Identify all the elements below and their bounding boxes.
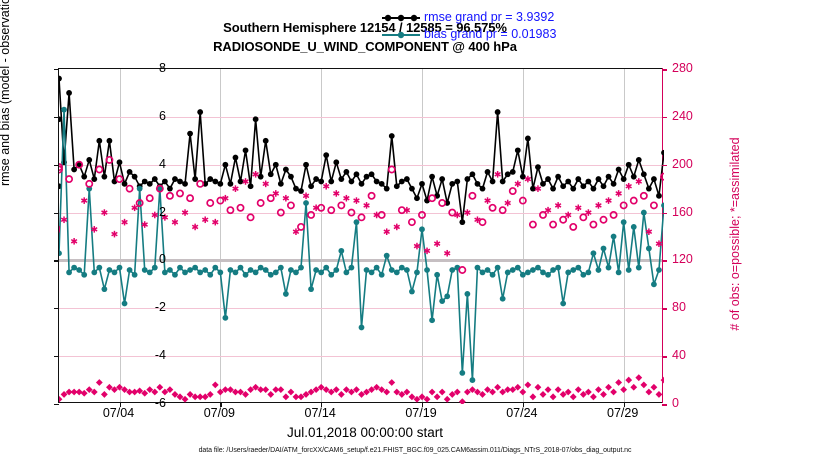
data-point (596, 267, 602, 273)
data-point (303, 200, 309, 206)
obs-possible-marker (348, 209, 354, 215)
obs-baseline-marker (81, 390, 88, 397)
y-tick-label-left: 4 (106, 157, 166, 171)
data-point (495, 109, 501, 115)
obs-possible-marker (610, 212, 616, 218)
data-point (273, 162, 279, 168)
data-point (606, 174, 612, 180)
data-point (490, 179, 496, 185)
data-point (364, 267, 370, 273)
obs-baseline-marker (519, 389, 526, 396)
y-tick-mark-right (662, 356, 667, 358)
y-tick-mark-right (662, 260, 667, 262)
data-point (459, 370, 465, 376)
chart-title: Southern Hemisphere 12154 / 12585 = 96.5… (0, 18, 730, 56)
data-point (530, 186, 536, 192)
series-rmse (59, 76, 664, 225)
data-point (454, 179, 460, 185)
data-point (525, 269, 531, 275)
obs-possible-marker (570, 224, 576, 230)
data-point (364, 174, 370, 180)
data-point (374, 179, 380, 185)
y-axis-right-label: # of obs: o=possible; *=assimilated (728, 64, 742, 404)
data-point (369, 269, 375, 275)
data-point (354, 171, 360, 177)
data-point (182, 269, 188, 275)
obs-baseline-marker (595, 386, 602, 393)
data-point (283, 167, 289, 173)
data-point (293, 186, 299, 192)
data-point (369, 171, 375, 177)
data-point (187, 131, 193, 137)
y-tick-label-left: 0 (106, 252, 166, 266)
obs-possible-marker (147, 195, 153, 201)
data-point (228, 181, 234, 187)
data-point (444, 293, 450, 299)
data-point (202, 267, 208, 273)
legend-bias-label: bias grand pr = 0.01983 (424, 26, 556, 43)
obs-baseline-marker (524, 381, 531, 388)
obs-possible-marker (510, 188, 516, 194)
data-point (394, 269, 400, 275)
data-point (278, 265, 284, 271)
data-point (631, 224, 637, 230)
y-tick-mark-right (662, 69, 667, 71)
data-point (349, 179, 355, 185)
data-point (500, 296, 506, 302)
data-point (293, 269, 299, 275)
data-point (646, 246, 652, 252)
data-point (601, 246, 607, 252)
y-tick-mark-left (54, 404, 59, 405)
data-point (470, 377, 476, 383)
obs-baseline-marker (439, 389, 446, 396)
y-tick-label-right: 40 (672, 348, 732, 362)
data-point (560, 183, 566, 189)
obs-possible-marker (449, 209, 455, 215)
legend-entry-rmse: rmse grand pr = 3.9392 (380, 9, 556, 26)
obs-possible-marker (268, 195, 274, 201)
y-tick-mark-left (54, 308, 59, 309)
data-point (439, 176, 445, 182)
data-point (253, 116, 259, 122)
data-point (197, 269, 203, 275)
data-point (167, 267, 173, 273)
data-point (333, 159, 339, 165)
obs-possible-marker (429, 195, 435, 201)
title-line-2: RADIOSONDE_U_WIND_COMPONENT @ 400 hPa (0, 37, 730, 56)
data-point (485, 169, 491, 175)
obs-possible-marker (288, 202, 294, 208)
data-point (575, 265, 581, 271)
data-point (374, 265, 380, 271)
x-tick-label: 07/29 (607, 406, 638, 420)
x-tick-label: 07/04 (103, 406, 134, 420)
data-point (313, 176, 319, 182)
data-point (258, 265, 264, 271)
data-point (580, 183, 586, 189)
data-point (86, 157, 92, 163)
obs-possible-marker (489, 205, 495, 211)
data-point (122, 181, 128, 187)
y-tick-label-left: 8 (106, 61, 166, 75)
y-tick-mark-left (54, 260, 59, 261)
obs-baseline-marker (96, 379, 103, 386)
data-point (591, 250, 597, 256)
obs-baseline-marker (610, 389, 617, 396)
legend-entry-bias: bias grand pr = 0.01983 (380, 26, 556, 43)
data-point (248, 183, 254, 189)
obs-baseline-marker (640, 381, 647, 388)
data-point (384, 253, 390, 259)
data-point (490, 272, 496, 278)
obs-possible-marker (368, 193, 374, 199)
obs-possible-marker (167, 193, 173, 199)
y-tick-label-right: 160 (672, 205, 732, 219)
obs-baseline-marker (76, 389, 83, 396)
data-point (475, 181, 481, 187)
data-point (217, 181, 223, 187)
data-file-caption: data file: /Users/raeder/DAI/ATM_forcXX/… (0, 447, 830, 454)
data-point (318, 179, 324, 185)
data-point (172, 272, 178, 278)
data-point (81, 272, 87, 278)
data-point (399, 265, 405, 271)
data-point (107, 267, 113, 273)
chart-figure: Southern Hemisphere 12154 / 12585 = 96.5… (0, 0, 830, 470)
data-point (187, 267, 193, 273)
data-point (601, 183, 607, 189)
data-point (510, 169, 516, 175)
data-point (560, 301, 566, 307)
data-point (333, 267, 339, 273)
title-line-1: Southern Hemisphere 12154 / 12585 = 96.5… (0, 18, 730, 37)
obs-baseline-marker (575, 386, 582, 393)
data-point (636, 157, 642, 163)
data-point (449, 267, 455, 273)
obs-baseline-marker (444, 396, 451, 403)
legend-bias-swatch-icon (380, 26, 422, 43)
data-point (137, 186, 143, 192)
obs-possible-marker (379, 212, 385, 218)
data-point (313, 267, 319, 273)
data-point (611, 234, 617, 240)
obs-possible-marker (328, 207, 334, 213)
data-point (71, 167, 77, 173)
data-point (298, 188, 304, 194)
obs-possible-marker (500, 207, 506, 213)
y-tick-label-left: 2 (106, 205, 166, 219)
obs-possible-marker (550, 221, 556, 227)
obs-possible-marker (560, 217, 566, 223)
obs-baseline-marker (590, 393, 597, 400)
data-point (550, 186, 556, 192)
obs-baseline-marker (459, 398, 466, 404)
obs-baseline-marker (600, 391, 607, 398)
obs-possible-marker (661, 174, 664, 180)
obs-possible-marker (227, 207, 233, 213)
obs-possible-marker (318, 205, 324, 211)
data-point (661, 150, 664, 156)
obs-baseline-marker (570, 393, 577, 400)
data-point (132, 272, 138, 278)
data-point (545, 176, 551, 182)
obs-baseline-marker (635, 374, 642, 381)
data-point (59, 76, 62, 82)
data-point (101, 174, 107, 180)
data-point (626, 267, 632, 273)
y-tick-mark-right (662, 165, 667, 167)
data-point (575, 176, 581, 182)
obs-baseline-marker (338, 391, 345, 398)
obs-possible-marker (459, 267, 465, 273)
data-point (545, 272, 551, 278)
data-point (71, 265, 77, 271)
series-bias (59, 107, 664, 383)
y-tick-mark-right (662, 404, 667, 406)
data-point (540, 181, 546, 187)
obs-possible-marker (580, 214, 586, 220)
data-point (651, 176, 657, 182)
data-point (459, 219, 465, 225)
obs-possible-marker (540, 212, 546, 218)
obs-baseline-marker (288, 389, 295, 396)
data-point (429, 174, 435, 180)
data-point (505, 269, 511, 275)
data-point (162, 179, 168, 185)
data-point (520, 174, 526, 180)
data-point (127, 267, 133, 273)
data-point (555, 265, 561, 271)
obs-baseline-marker (262, 386, 269, 393)
data-point (328, 272, 334, 278)
chart-legend: rmse grand pr = 3.9392 bias grand pr = 0… (380, 9, 556, 43)
data-point (207, 176, 213, 182)
obs-baseline-marker (156, 384, 163, 391)
data-point (495, 265, 501, 271)
data-point (323, 152, 329, 158)
obs-possible-marker (338, 202, 344, 208)
y-tick-label-right: 240 (672, 109, 732, 123)
data-point (596, 176, 602, 182)
data-point (283, 291, 289, 297)
data-point (621, 176, 627, 182)
obs-baseline-marker (282, 393, 289, 400)
data-point (142, 267, 148, 273)
y-tick-mark-left (54, 356, 59, 357)
data-point (570, 267, 576, 273)
data-point (177, 179, 183, 185)
data-point (268, 171, 274, 177)
data-point (394, 183, 400, 189)
data-point (565, 179, 571, 185)
data-point (389, 267, 395, 273)
data-point (480, 269, 486, 275)
obs-possible-marker (116, 176, 122, 182)
y-tick-label-right: 0 (672, 396, 732, 410)
data-point (349, 265, 355, 271)
obs-possible-marker (590, 221, 596, 227)
data-point (147, 269, 153, 275)
data-point (585, 179, 591, 185)
obs-possible-marker (96, 166, 102, 172)
data-point (399, 179, 405, 185)
data-point (409, 289, 415, 295)
data-point (565, 269, 571, 275)
obs-possible-marker (530, 221, 536, 227)
data-point (631, 174, 637, 180)
y-tick-mark-left (54, 117, 59, 118)
data-point (192, 265, 198, 271)
obs-possible-marker (308, 212, 314, 218)
data-point (475, 265, 481, 271)
data-point (91, 269, 97, 275)
data-point (66, 90, 72, 96)
x-tick-label: 07/14 (305, 406, 336, 420)
data-point (404, 176, 410, 182)
obs-baseline-marker (277, 386, 284, 393)
data-point (464, 176, 470, 182)
x-axis-label: Jul.01,2018 00:00:00 start (0, 425, 730, 440)
y-tick-label-right: 280 (672, 61, 732, 75)
data-point (76, 267, 82, 273)
obs-baseline-marker (494, 384, 501, 391)
data-point (530, 267, 536, 273)
data-point (212, 179, 218, 185)
obs-possible-marker (409, 219, 415, 225)
data-point (535, 265, 541, 271)
y-tick-mark-left (54, 69, 59, 70)
data-point (303, 162, 309, 168)
data-point (520, 272, 526, 278)
data-point (621, 219, 627, 225)
data-point (580, 272, 586, 278)
data-point (359, 325, 365, 331)
data-point (470, 171, 476, 177)
data-point (152, 176, 158, 182)
data-point (238, 179, 244, 185)
obs-possible-marker (187, 195, 193, 201)
data-point (485, 267, 491, 273)
data-point (419, 226, 425, 232)
data-point (207, 272, 213, 278)
data-point (555, 174, 561, 180)
obs-baseline-marker (545, 386, 552, 393)
data-point (641, 210, 647, 216)
y-tick-label-right: 80 (672, 300, 732, 314)
data-point (384, 186, 390, 192)
data-point (182, 181, 188, 187)
data-point (389, 133, 395, 139)
data-point (197, 109, 203, 115)
data-point (308, 286, 314, 292)
obs-possible-marker (358, 214, 364, 220)
obs-baseline-marker (535, 384, 542, 391)
data-point (328, 179, 334, 185)
x-tick-label: 07/24 (506, 406, 537, 420)
data-point (515, 265, 521, 271)
data-point (167, 186, 173, 192)
obs-baseline-marker (555, 386, 562, 393)
data-point (66, 269, 72, 275)
data-point (172, 176, 178, 182)
data-point (585, 269, 591, 275)
obs-baseline-marker (605, 384, 612, 391)
data-point (258, 174, 264, 180)
data-point (409, 186, 415, 192)
data-point (354, 219, 360, 225)
obs-baseline-marker (661, 377, 664, 384)
data-point (359, 181, 365, 187)
data-point (112, 269, 118, 275)
data-point (641, 171, 647, 177)
data-point (414, 195, 420, 201)
obs-possible-marker (298, 224, 304, 230)
data-point (651, 281, 657, 287)
data-point (217, 269, 223, 275)
data-point (142, 179, 148, 185)
data-point (268, 272, 274, 278)
legend-rmse-swatch-icon (380, 9, 422, 26)
x-tick-label: 07/19 (405, 406, 436, 420)
y-tick-mark-right (662, 117, 667, 119)
obs-possible-marker (641, 193, 647, 199)
data-point (81, 174, 87, 180)
data-point (96, 265, 102, 271)
series-line (59, 110, 664, 380)
data-point (379, 272, 385, 278)
data-point (132, 174, 138, 180)
obs-possible-marker (631, 198, 637, 204)
data-point (434, 272, 440, 278)
obs-baseline-marker (267, 391, 274, 398)
obs-possible-marker (479, 219, 485, 225)
data-point (323, 265, 329, 271)
data-point (500, 179, 506, 185)
obs-baseline-marker (645, 389, 652, 396)
obs-baseline-marker (615, 379, 622, 386)
data-point (404, 267, 410, 273)
legend-rmse-label: rmse grand pr = 3.9392 (424, 9, 554, 26)
obs-baseline-marker (429, 389, 436, 396)
data-point (263, 267, 269, 273)
data-point (661, 202, 664, 208)
y-tick-label-left: -2 (106, 300, 166, 314)
data-point (656, 267, 662, 273)
data-point (318, 269, 324, 275)
data-point (222, 315, 228, 321)
data-point (550, 267, 556, 273)
y-tick-label-left: 6 (106, 109, 166, 123)
data-point (540, 269, 546, 275)
obs-possible-marker (207, 200, 213, 206)
obs-baseline-marker (651, 384, 658, 391)
data-point (338, 248, 344, 254)
obs-baseline-marker (540, 391, 547, 398)
data-point (212, 265, 218, 271)
data-point (147, 181, 153, 187)
data-point (59, 250, 62, 256)
y-tick-mark-right (662, 213, 667, 215)
obs-possible-marker (126, 186, 132, 192)
obs-possible-marker (389, 166, 395, 172)
data-point (510, 267, 516, 273)
obs-baseline-marker (212, 381, 219, 388)
data-point (480, 186, 486, 192)
x-tick-label: 07/09 (204, 406, 235, 420)
obs-possible-marker (419, 212, 425, 218)
data-point (343, 269, 349, 275)
